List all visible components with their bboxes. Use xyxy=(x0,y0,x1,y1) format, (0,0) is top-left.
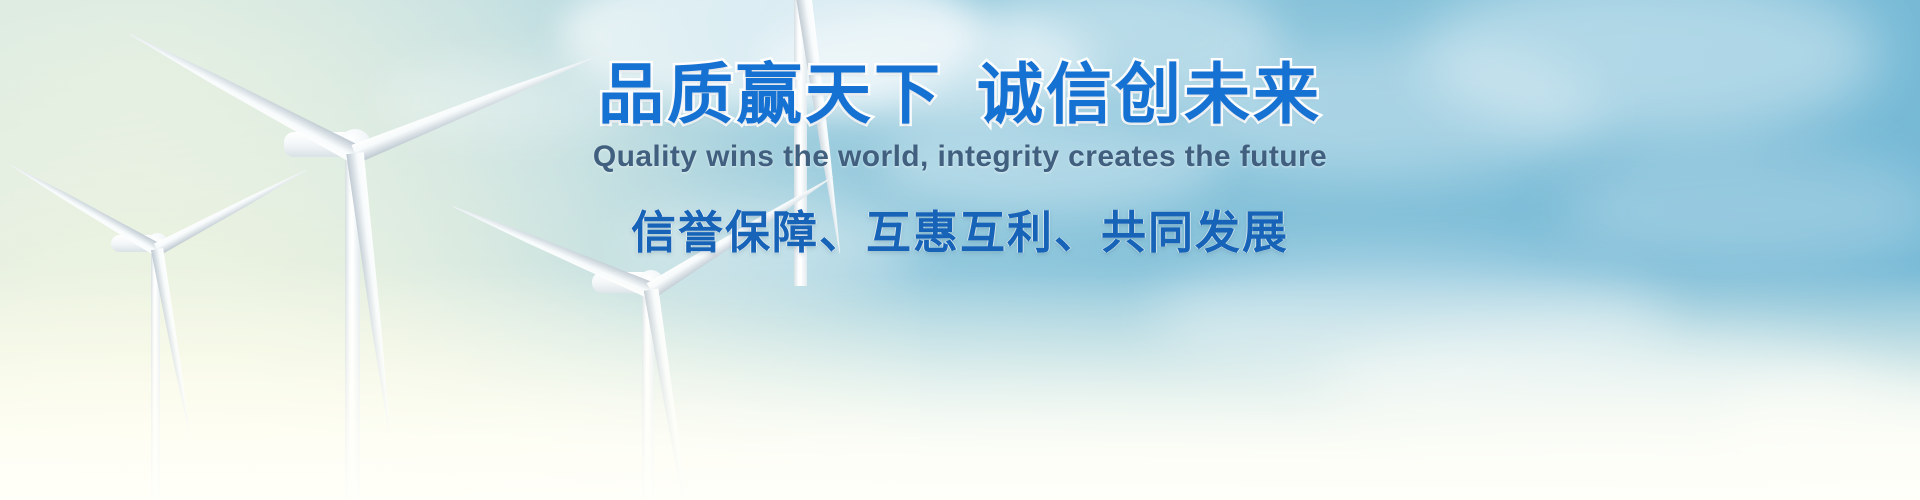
cloud-shape xyxy=(880,120,1220,210)
cloud-shape xyxy=(1560,150,1920,270)
bottom-haze-overlay xyxy=(0,260,1920,500)
promo-banner: 品质赢天下诚信创未来 Quality wins the world, integ… xyxy=(0,0,1920,500)
